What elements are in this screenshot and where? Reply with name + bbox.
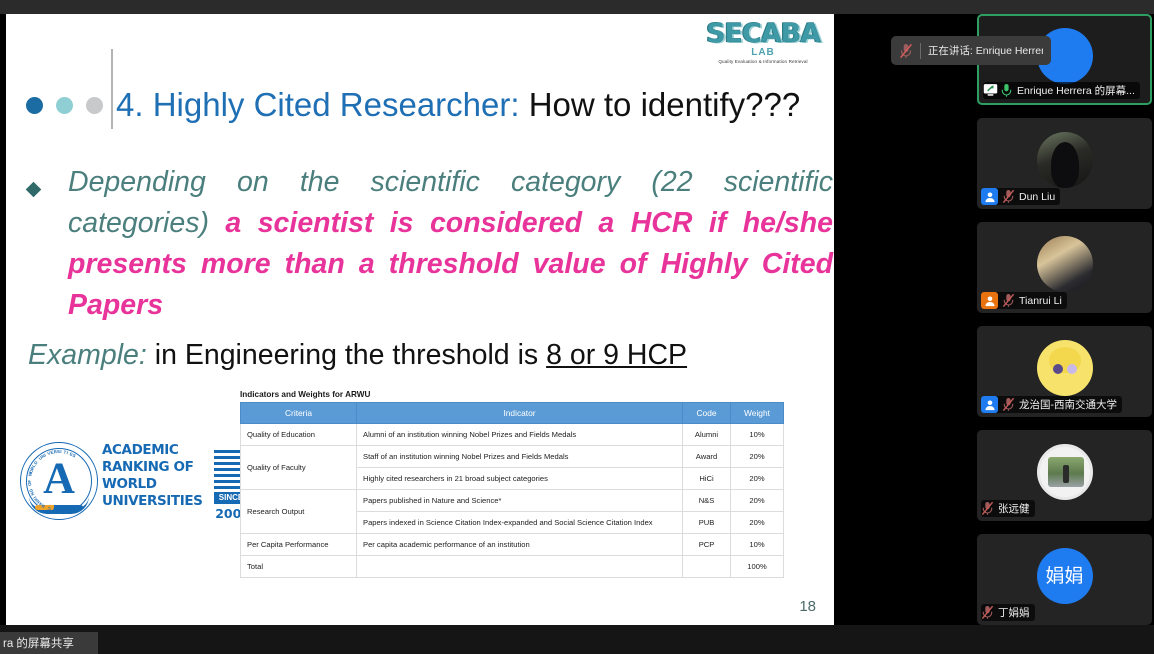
participant-namebar: 龙治国-西南交通大学 <box>981 396 1122 413</box>
participant-namebar: 丁娟娟 <box>981 604 1035 621</box>
cell-indicator <box>357 556 683 578</box>
col-header-indicator: Indicator <box>357 403 683 424</box>
meeting-window: SECABA LAB Quality Evaluation & Informat… <box>0 0 1154 654</box>
cell-criteria: Per Capita Performance <box>241 534 357 556</box>
screen-share-icon <box>983 83 996 98</box>
participant-tile[interactable]: 张远健 <box>977 430 1152 521</box>
participant-tile[interactable]: Tianrui Li <box>977 222 1152 313</box>
cell-code <box>683 556 731 578</box>
participant-name: 张远健 <box>998 501 1030 516</box>
mic-on-icon <box>1000 83 1013 98</box>
cell-criteria: Quality of Faculty <box>241 446 357 490</box>
example-text: in Engineering the threshold is <box>155 339 538 371</box>
cell-weight: 100% <box>731 556 784 578</box>
arwu-seal-icon: A ACADEMIC RANKING OF WORLD UNIVERSITIES <box>20 442 98 520</box>
mic-muted-icon <box>899 43 913 59</box>
cell-code: N&S <box>683 490 731 512</box>
avatar: 娟娟 <box>1037 548 1093 604</box>
cell-indicator: Papers indexed in Science Citation Index… <box>357 512 683 534</box>
title-dots <box>26 97 103 114</box>
slide-bullet-block: Depending on the scientific category (22… <box>28 162 833 326</box>
participant-name: Enrique Herrera 的屏幕... <box>1017 83 1135 98</box>
avatar <box>1037 444 1093 500</box>
cell-weight: 10% <box>731 534 784 556</box>
cell-indicator: Staff of an institution winning Nobel Pr… <box>357 446 683 468</box>
participant-namebar: Tianrui Li <box>981 292 1067 309</box>
table-row: Total100% <box>241 556 784 578</box>
cell-code: PUB <box>683 512 731 534</box>
cell-indicator: Highly cited researchers in 21 broad sub… <box>357 468 683 490</box>
participant-tile[interactable]: 娟娟丁娟娟 <box>977 534 1152 625</box>
cell-indicator: Alumni of an institution winning Nobel P… <box>357 424 683 446</box>
slide-body-paragraph: Depending on the scientific category (22… <box>68 162 833 326</box>
cell-criteria: Quality of Education <box>241 424 357 446</box>
cell-criteria: Research Output <box>241 490 357 534</box>
dot-3-icon <box>86 97 103 114</box>
table-row: Research OutputPapers published in Natur… <box>241 490 784 512</box>
table-row: Quality of EducationAlumni of an institu… <box>241 424 784 446</box>
person-orange-icon <box>981 292 998 309</box>
arwu-table: Criteria Indicator Code Weight Quality o… <box>240 402 784 578</box>
cell-code: Alumni <box>683 424 731 446</box>
participant-rail[interactable]: Enrique Herrera 的屏幕...Dun LiuTianrui Li龙… <box>977 14 1154 654</box>
mic-muted-icon <box>1002 293 1015 308</box>
slide-title-rest: How to identify??? <box>529 86 801 123</box>
cell-weight: 20% <box>731 512 784 534</box>
cell-code: PCP <box>683 534 731 556</box>
table-row: Per Capita PerformancePer capita academi… <box>241 534 784 556</box>
participant-name: 丁娟娟 <box>998 605 1030 620</box>
col-header-code: Code <box>683 403 731 424</box>
cell-criteria: Total <box>241 556 357 578</box>
participant-namebar: 张远健 <box>981 500 1035 517</box>
cell-indicator: Papers published in Nature and Science* <box>357 490 683 512</box>
shared-screen-slide[interactable]: SECABA LAB Quality Evaluation & Informat… <box>6 14 834 637</box>
arwu-table-body: Quality of EducationAlumni of an institu… <box>241 424 784 578</box>
slide-page-number: 18 <box>799 598 816 615</box>
participant-namebar: Dun Liu <box>981 188 1060 205</box>
avatar <box>1037 340 1093 396</box>
person-blue-icon <box>981 188 998 205</box>
avatar-initials: 娟娟 <box>1037 548 1093 604</box>
example-underlined: 8 or 9 HCP <box>546 339 687 371</box>
cell-weight: 20% <box>731 490 784 512</box>
active-speaker-text: 正在讲话: Enrique Herrera ; <box>928 43 1043 58</box>
taskbar-item-label: ra 的屏幕共享 <box>3 635 74 651</box>
slide-example-line: Example: in Engineering the threshold is… <box>28 339 687 372</box>
cell-weight: 10% <box>731 424 784 446</box>
slide-title-number: 4. <box>116 86 144 123</box>
title-rule <box>111 49 113 129</box>
secaba-tagline: Quality Evaluation & Information Retriev… <box>698 60 828 65</box>
cell-weight: 20% <box>731 446 784 468</box>
mic-muted-icon <box>1002 397 1015 412</box>
arwu-seal-circular-text: ACADEMIC RANKING OF WORLD UNIVERSITIES <box>21 443 97 519</box>
active-speaker-banner: 正在讲话: Enrique Herrera ; <box>891 36 1051 65</box>
col-header-criteria: Criteria <box>241 403 357 424</box>
taskbar: ra 的屏幕共享 <box>0 625 1154 654</box>
secaba-logo: SECABA LAB Quality Evaluation & Informat… <box>698 20 828 65</box>
cell-indicator: Per capita academic performance of an in… <box>357 534 683 556</box>
taskbar-item-screenshare[interactable]: ra 的屏幕共享 <box>0 632 98 654</box>
avatar <box>1037 132 1093 188</box>
participant-tile[interactable]: Dun Liu <box>977 118 1152 209</box>
dot-2-icon <box>56 97 73 114</box>
arwu-table-block: Indicators and Weights for ARWU Criteria… <box>240 390 783 578</box>
arwu-wordmark: ACADEMIC RANKING OF WORLD UNIVERSITIES S… <box>102 442 246 510</box>
participant-namebar: Enrique Herrera 的屏幕... <box>983 82 1140 99</box>
banner-divider <box>920 43 921 59</box>
slide-title-highlight: Highly Cited Researcher: <box>153 86 520 123</box>
mic-muted-icon <box>1002 189 1015 204</box>
example-label: Example: <box>28 339 147 371</box>
slide-title: 4. Highly Cited Researcher: How to ident… <box>116 86 800 124</box>
cell-code: Award <box>683 446 731 468</box>
person-blue-icon <box>981 396 998 413</box>
participant-name: Tianrui Li <box>1019 295 1062 307</box>
secaba-wordmark: SECABA <box>698 20 828 47</box>
col-header-weight: Weight <box>731 403 784 424</box>
arwu-logo: A ACADEMIC RANKING OF WORLD UNIVERSITIES… <box>20 434 246 524</box>
table-row: Quality of FacultyStaff of an institutio… <box>241 446 784 468</box>
window-top-strip <box>0 0 1154 14</box>
cell-weight: 20% <box>731 468 784 490</box>
mic-muted-icon <box>981 605 994 620</box>
secaba-lab-text: LAB <box>698 48 828 58</box>
participant-name: Dun Liu <box>1019 191 1055 203</box>
table-header-row: Criteria Indicator Code Weight <box>241 403 784 424</box>
diamond-bullet-icon <box>26 182 42 198</box>
avatar <box>1037 236 1093 292</box>
participant-name: 龙治国-西南交通大学 <box>1019 397 1117 412</box>
arwu-table-caption: Indicators and Weights for ARWU <box>240 390 783 399</box>
participant-tile[interactable]: 龙治国-西南交通大学 <box>977 326 1152 417</box>
cell-code: HiCi <box>683 468 731 490</box>
dot-1-icon <box>26 97 43 114</box>
mic-muted-icon <box>981 501 994 516</box>
